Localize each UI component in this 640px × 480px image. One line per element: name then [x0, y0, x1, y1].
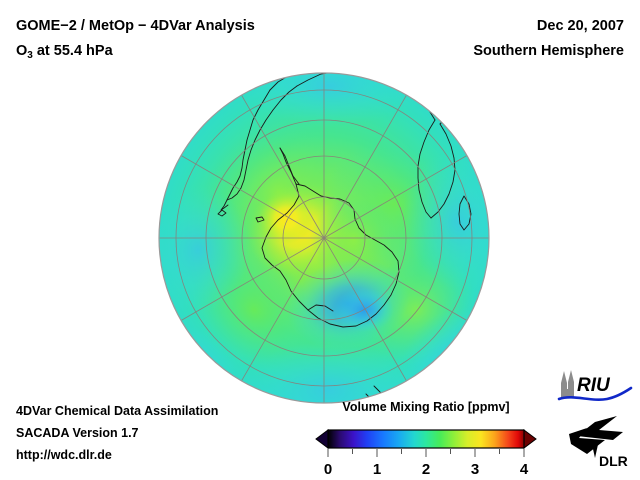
dlr-logo: DLR [565, 414, 635, 470]
colorbar-title: Volume Mixing Ratio [ppmv] [310, 400, 542, 414]
colorbar-tick-label: 0 [324, 461, 332, 478]
colorbar-tick-label: 3 [471, 461, 479, 478]
colorbar-gradient [328, 430, 524, 448]
colorbar-tick-label: 1 [373, 461, 381, 478]
dlr-wordmark: DLR [599, 453, 628, 469]
footer-credits: 4DVar Chemical Data Assimilation SACADA … [16, 400, 218, 466]
colorbar-cap-low [316, 430, 328, 448]
colorbar-ticks [328, 449, 524, 457]
footer-line-url[interactable]: http://wdc.dlr.de [16, 444, 218, 466]
visualization-page: GOME−2 / MetOp − 4DVar Analysis O3 at 55… [0, 0, 640, 480]
date-label: Dec 20, 2007 [473, 14, 624, 39]
colorbar-cap-high [524, 430, 536, 448]
header-right: Dec 20, 2007 Southern Hemisphere [473, 14, 624, 64]
region-label: Southern Hemisphere [473, 39, 624, 64]
colorbar-tick-labels: 0 1 2 3 4 [324, 461, 529, 478]
colorbar: Volume Mixing Ratio [ppmv] [310, 400, 542, 480]
riu-logo: RIU [557, 369, 633, 405]
riu-wordmark: RIU [577, 375, 611, 396]
header-left: GOME−2 / MetOp − 4DVar Analysis O3 at 55… [16, 14, 255, 65]
page-title: GOME−2 / MetOp − 4DVar Analysis [16, 14, 255, 39]
pressure-level-label: at 55.4 hPa [33, 43, 113, 59]
species-label: O [16, 43, 27, 59]
colorbar-svg: 0 1 2 3 4 [310, 418, 542, 480]
colorbar-tick-label: 2 [422, 461, 430, 478]
dlr-mark-icon [569, 416, 623, 458]
species-subscript: 3 [27, 50, 33, 61]
cathedral-icon [561, 370, 574, 397]
colorbar-tick-label: 4 [520, 461, 529, 478]
globe-svg [158, 72, 490, 404]
page-subtitle: O3 at 55.4 hPa [16, 39, 255, 65]
footer-line-version: SACADA Version 1.7 [16, 422, 218, 444]
globe-map [158, 72, 490, 404]
footer-line-assimilation: 4DVar Chemical Data Assimilation [16, 400, 218, 422]
